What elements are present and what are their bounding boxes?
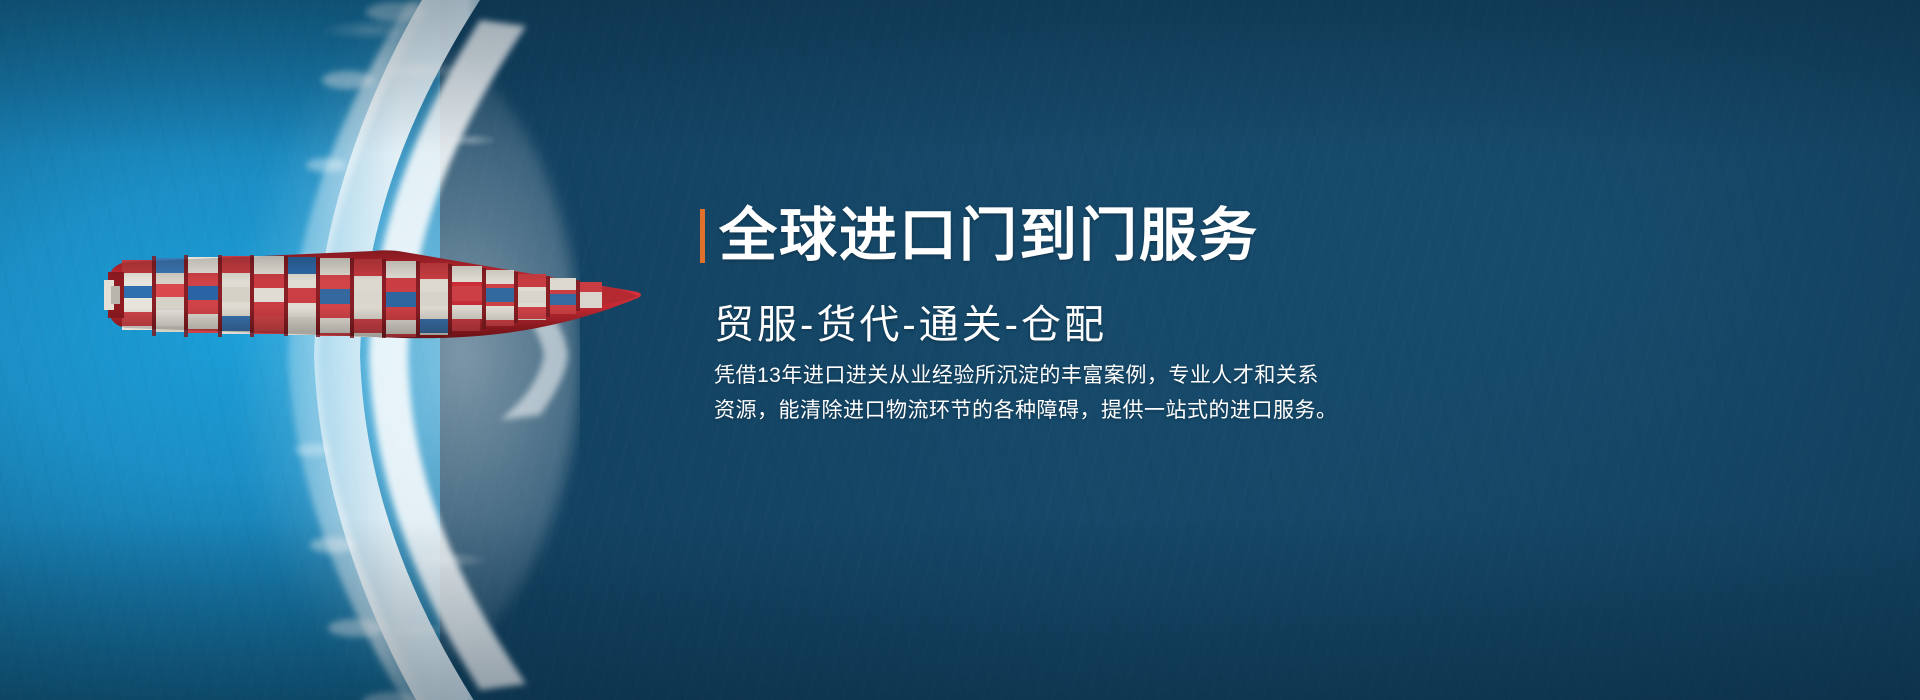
hero-banner: 全球进口门到门服务 贸服-货代-通关-仓配 凭借13年进口进关从业经验所沉淀的丰… [0,0,1920,700]
banner-title-row: 全球进口门到门服务 [700,168,1259,304]
banner-description: 凭借13年进口进关从业经验所沉淀的丰富案例，专业人才和关系 资源，能清除进口物流… [714,359,1414,428]
banner-subtitle: 贸服-货代-通关-仓配 [714,301,1107,349]
banner-title: 全球进口门到门服务 [719,207,1259,265]
accent-bar-icon [700,209,705,263]
banner-description-line-1: 凭借13年进口进关从业经验所沉淀的丰富案例，专业人才和关系 [714,359,1414,394]
banner-content: 全球进口门到门服务 贸服-货代-通关-仓配 凭借13年进口进关从业经验所沉淀的丰… [700,0,1460,700]
banner-description-line-2: 资源，能清除进口物流环节的各种障碍，提供一站式的进口服务。 [714,394,1414,429]
